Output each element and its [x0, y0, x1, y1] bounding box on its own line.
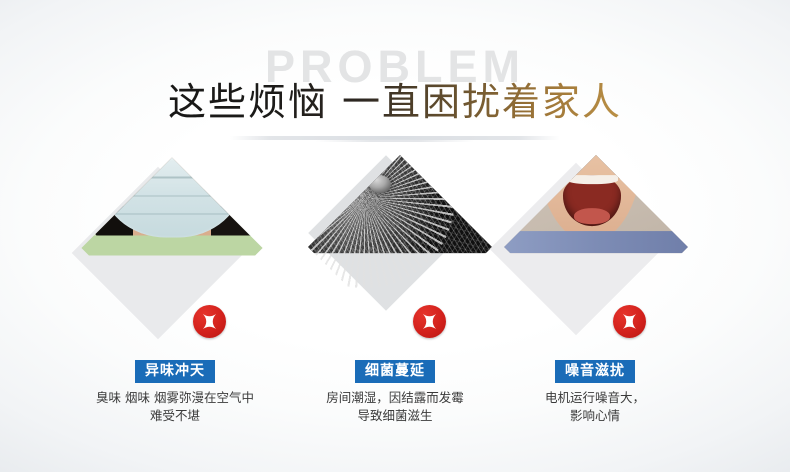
problem-section: PROBLEM 这些烦恼 一直困扰着家人: [0, 0, 790, 472]
status-badge: 细菌蔓延: [355, 360, 435, 383]
diamond-photo-clip: [308, 155, 492, 339]
problem-card-odor: 异味冲天 臭味 烟味 烟雾弥漫在空气中 难受不堪: [75, 162, 275, 425]
diamond-photo-clip: [504, 155, 688, 339]
x-mark-icon: [613, 305, 646, 338]
label-row: 异味冲天: [75, 360, 275, 383]
diamond-image-frame: [295, 162, 495, 357]
card-description: 房间潮湿，因结露而发霉 导致细菌滋生: [295, 389, 495, 425]
label-row: 细菌蔓延: [295, 360, 495, 383]
problem-card-bacteria: 细菌蔓延 房间潮湿，因结露而发霉 导致细菌滋生: [295, 162, 495, 425]
x-mark-icon: [193, 305, 226, 338]
problem-cards: 异味冲天 臭味 烟味 烟雾弥漫在空气中 难受不堪: [0, 162, 790, 462]
status-badge: 异味冲天: [135, 360, 215, 383]
title-divider: [230, 136, 560, 140]
problem-card-noise: 噪音滋扰 电机运行噪音大， 影响心情: [495, 162, 695, 425]
card-description: 电机运行噪音大， 影响心情: [495, 389, 695, 425]
diamond-photo-clip: [81, 157, 262, 338]
x-mark-icon: [413, 305, 446, 338]
page-title: 这些烦恼 一直困扰着家人: [0, 82, 790, 124]
diamond-image-frame: [495, 162, 695, 357]
photo-woman-with-mask: [81, 157, 262, 255]
label-row: 噪音滋扰: [495, 360, 695, 383]
status-badge: 噪音滋扰: [555, 360, 635, 383]
section-header: PROBLEM 这些烦恼 一直困扰着家人: [0, 0, 790, 160]
card-description: 臭味 烟味 烟雾弥漫在空气中 难受不堪: [75, 389, 275, 425]
diamond-image-frame: [75, 162, 275, 357]
photo-child-screaming: [504, 155, 688, 253]
